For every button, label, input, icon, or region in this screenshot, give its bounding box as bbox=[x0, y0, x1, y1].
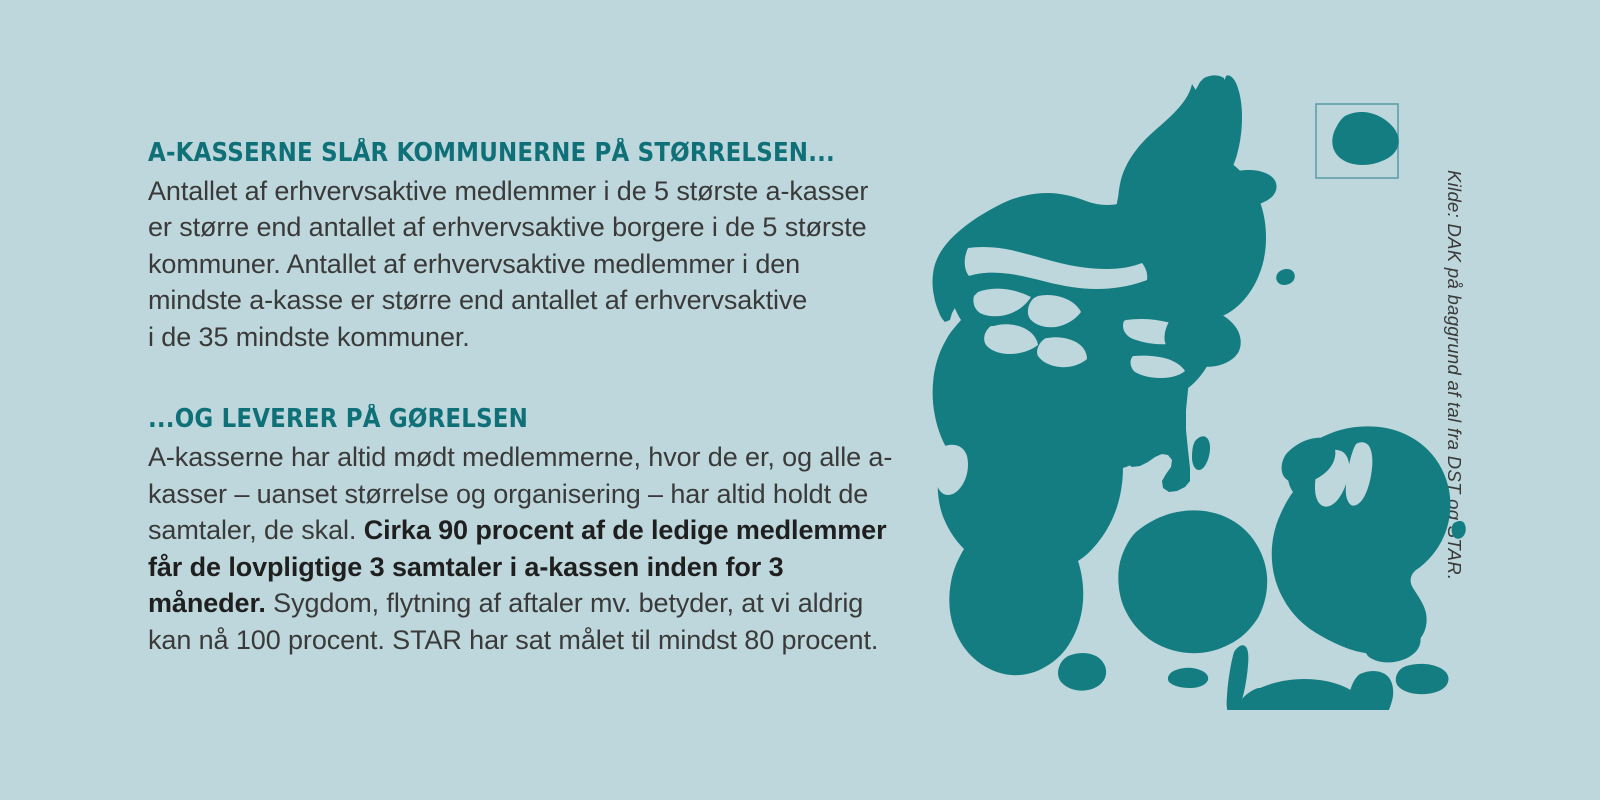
section-body-1-line-4: mindste a-kasse er større end antallet a… bbox=[148, 285, 807, 315]
text-column: A-KASSERNE SLÅR KOMMUNERNE PÅ STØRRELSEN… bbox=[148, 140, 908, 658]
section-body-2: A-kasserne har altid mødt medlemmerne, h… bbox=[148, 439, 908, 658]
section-body-1-line-5: i de 35 mindste kommuner. bbox=[148, 322, 470, 352]
island-laeso bbox=[1219, 170, 1277, 207]
island-als bbox=[1058, 653, 1106, 691]
section-body-1-line-1: Antallet af erhvervsaktive medlemmer i d… bbox=[148, 176, 868, 206]
island-small-east bbox=[1452, 521, 1466, 539]
denmark-map bbox=[890, 70, 1470, 710]
island-mon bbox=[1396, 664, 1449, 694]
section-heading-1: A-KASSERNE SLÅR KOMMUNERNE PÅ STØRRELSEN… bbox=[148, 140, 832, 167]
island-anholt bbox=[1276, 269, 1295, 285]
section-body-1-line-3: kommuner. Antallet af erhvervsaktive med… bbox=[148, 249, 800, 279]
section-heading-2: ...OG LEVERER PÅ GØRELSEN bbox=[148, 406, 832, 433]
region-fyn bbox=[1118, 510, 1267, 653]
island-samso bbox=[1192, 436, 1210, 470]
island-lolland bbox=[1238, 679, 1363, 710]
denmark-map-svg bbox=[890, 70, 1470, 710]
island-bornholm bbox=[1332, 112, 1398, 165]
section-body-1-line-2: er større end antallet af erhvervsaktive… bbox=[148, 212, 867, 242]
island-aero bbox=[1168, 668, 1208, 688]
section-spacer bbox=[148, 355, 908, 406]
infographic-poster: A-KASSERNE SLÅR KOMMUNERNE PÅ STØRRELSEN… bbox=[0, 0, 1600, 800]
section-body-1: Antallet af erhvervsaktive medlemmer i d… bbox=[148, 173, 908, 356]
